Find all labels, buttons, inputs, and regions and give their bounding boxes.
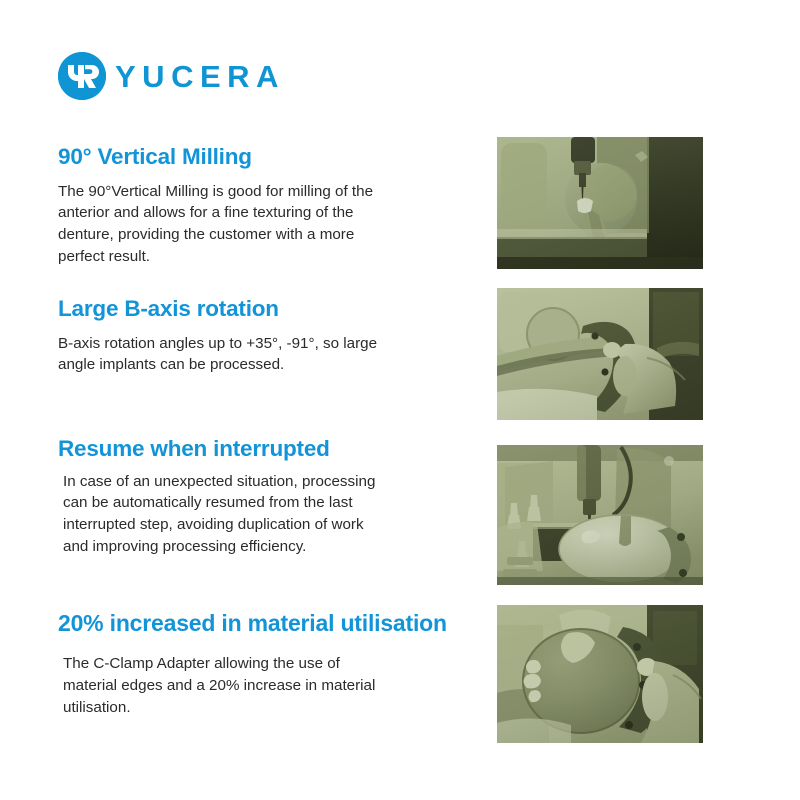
feature-body: The C-Clamp Adapter allowing the use of … <box>58 653 378 718</box>
vertical-milling-photo <box>497 137 703 269</box>
feature-block-b-axis-rotation: Large B-axis rotation B-axis rotation an… <box>58 296 478 376</box>
feature-block-material-utilisation: 20% increased in material utilisation Th… <box>58 610 478 718</box>
b-axis-rotation-photo <box>497 288 703 420</box>
feature-title: Large B-axis rotation <box>58 296 478 322</box>
yucera-yr-monogram-icon <box>58 52 106 100</box>
feature-block-vertical-milling: 90° Vertical Milling The 90°Vertical Mil… <box>58 144 478 267</box>
material-utilisation-photo <box>497 605 703 743</box>
feature-title: Resume when interrupted <box>58 436 478 462</box>
brand-logo: YUCERA <box>58 52 285 100</box>
feature-title: 90° Vertical Milling <box>58 144 478 170</box>
feature-block-resume-when-interrupted: Resume when interrupted In case of an un… <box>58 436 478 557</box>
brand-wordmark: YUCERA <box>115 61 285 92</box>
feature-body: In case of an unexpected situation, proc… <box>58 471 383 557</box>
feature-body: B-axis rotation angles up to +35°, -91°,… <box>58 333 388 376</box>
feature-body: The 90°Vertical Milling is good for mill… <box>58 181 388 267</box>
resume-when-interrupted-photo <box>497 445 703 585</box>
feature-sheet-page: YUCERA 90° Vertical Milling The 90°Verti… <box>0 0 800 800</box>
feature-title: 20% increased in material utilisation <box>58 610 478 636</box>
